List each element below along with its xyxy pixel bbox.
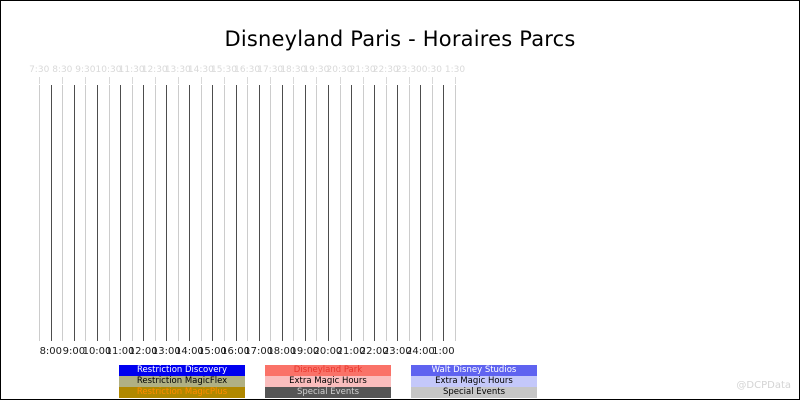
gridline-minor: [455, 85, 456, 341]
top-axis-tick: [293, 77, 294, 84]
legend-column-walt-disney-studios: Walt Disney StudiosExtra Magic HoursSpec…: [411, 365, 537, 398]
top-axis-tick-label: 19:30: [303, 65, 329, 75]
gridline-major: [236, 85, 237, 341]
top-axis-tick: [155, 77, 156, 84]
top-axis-tick: [85, 77, 86, 84]
top-axis-tick-label: 15:30: [211, 65, 237, 75]
top-axis-tick-label: 0:30: [422, 65, 442, 75]
gridline-major: [189, 85, 190, 341]
bottom-axis-tick-label: 1:00: [432, 346, 454, 357]
gridline-minor: [132, 85, 133, 341]
gridline-minor: [201, 85, 202, 341]
legend-item[interactable]: Special Events: [411, 387, 537, 398]
gridline-major: [397, 85, 398, 341]
timeline-plot-area: 7:308:008:309:009:3010:0010:3011:0011:30…: [1, 1, 799, 399]
top-axis-tick: [247, 77, 248, 84]
gridline-minor: [270, 85, 271, 341]
gridline-major: [120, 85, 121, 341]
top-axis-tick: [270, 77, 271, 84]
gridline-minor: [386, 85, 387, 341]
gridline-minor: [178, 85, 179, 341]
top-axis-tick-label: 23:30: [396, 65, 422, 75]
gridline-major: [212, 85, 213, 341]
legend-item[interactable]: Restriction MagicFlex: [119, 376, 245, 387]
gridline-minor: [432, 85, 433, 341]
top-axis-tick-label: 13:30: [165, 65, 191, 75]
top-axis-tick-label: 12:30: [142, 65, 168, 75]
top-axis-tick-label: 17:30: [257, 65, 283, 75]
gridline-minor: [293, 85, 294, 341]
gridline-minor: [247, 85, 248, 341]
top-axis-tick-label: 16:30: [234, 65, 260, 75]
top-axis-tick-label: 11:30: [119, 65, 145, 75]
top-axis-tick: [224, 77, 225, 84]
gridline-major: [143, 85, 144, 341]
top-axis-tick-label: 14:30: [188, 65, 214, 75]
gridline-minor: [62, 85, 63, 341]
top-axis-tick: [109, 77, 110, 84]
gridline-major: [97, 85, 98, 341]
legend-item[interactable]: Restriction MagicPlus: [119, 387, 245, 398]
watermark: @DCPData: [736, 380, 791, 391]
top-axis-tick: [455, 77, 456, 84]
gridline-major: [443, 85, 444, 341]
top-axis-tick: [363, 77, 364, 84]
top-axis-tick-label: 10:30: [96, 65, 122, 75]
top-axis-tick-label: 21:30: [350, 65, 376, 75]
gridline-minor: [155, 85, 156, 341]
legend-column-disneyland-park: Disneyland ParkExtra Magic HoursSpecial …: [265, 365, 391, 398]
top-axis-tick: [132, 77, 133, 84]
chart-frame: Disneyland Paris - Horaires Parcs 7:308:…: [0, 0, 800, 400]
gridline-major: [374, 85, 375, 341]
gridline-major: [282, 85, 283, 341]
legend-column-restrictions: Restriction DiscoveryRestriction MagicFl…: [119, 365, 245, 398]
gridline-minor: [316, 85, 317, 341]
gridline-major: [328, 85, 329, 341]
gridline-minor: [363, 85, 364, 341]
top-axis-tick-label: 18:30: [280, 65, 306, 75]
top-axis-tick-label: 1:30: [445, 65, 465, 75]
top-axis-tick: [386, 77, 387, 84]
top-axis-tick: [178, 77, 179, 84]
top-axis-tick-label: 7:30: [29, 65, 49, 75]
gridline-minor: [409, 85, 410, 341]
top-axis-tick: [39, 77, 40, 84]
top-axis-tick-label: 20:30: [327, 65, 353, 75]
legend: Restriction DiscoveryRestriction MagicFl…: [119, 365, 537, 398]
gridline-major: [259, 85, 260, 341]
top-axis-tick-label: 9:30: [75, 65, 95, 75]
top-axis-tick: [316, 77, 317, 84]
legend-item[interactable]: Disneyland Park: [265, 365, 391, 376]
gridline-major: [51, 85, 52, 341]
gridline-minor: [224, 85, 225, 341]
gridline-minor: [39, 85, 40, 341]
bottom-axis-tick-label: 24:00: [406, 346, 435, 357]
gridline-minor: [85, 85, 86, 341]
legend-item[interactable]: Extra Magic Hours: [265, 376, 391, 387]
gridline-major: [351, 85, 352, 341]
top-axis-tick-label: 8:30: [52, 65, 72, 75]
top-axis-tick: [409, 77, 410, 84]
top-axis-tick: [340, 77, 341, 84]
top-axis-tick: [62, 77, 63, 84]
gridline-minor: [109, 85, 110, 341]
legend-item[interactable]: Extra Magic Hours: [411, 376, 537, 387]
top-axis-tick-label: 22:30: [373, 65, 399, 75]
gridline-major: [74, 85, 75, 341]
gridline-minor: [340, 85, 341, 341]
gridline-major: [305, 85, 306, 341]
top-axis-tick: [432, 77, 433, 84]
legend-item[interactable]: Walt Disney Studios: [411, 365, 537, 376]
legend-item[interactable]: Restriction Discovery: [119, 365, 245, 376]
gridline-major: [166, 85, 167, 341]
bottom-axis-tick-label: 8:00: [40, 346, 62, 357]
legend-item[interactable]: Special Events: [265, 387, 391, 398]
gridline-major: [420, 85, 421, 341]
top-axis-tick: [201, 77, 202, 84]
